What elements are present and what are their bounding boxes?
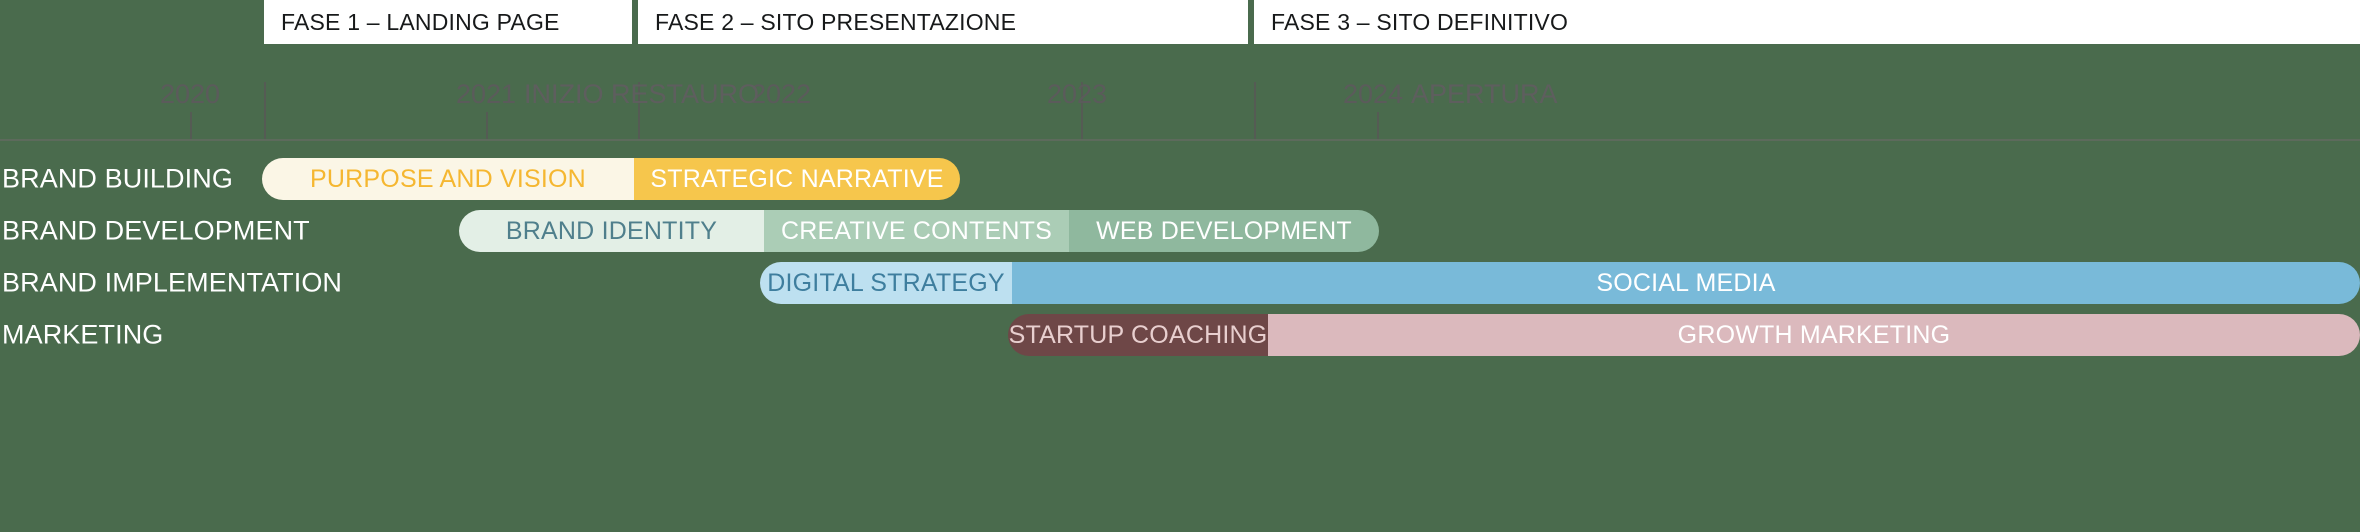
task-row: BRAND DEVELOPMENTBRAND IDENTITYCREATIVE … <box>0 205 2360 257</box>
gantt-bar-label: BRAND IDENTITY <box>506 217 717 246</box>
bar-track: BRAND IDENTITYCREATIVE CONTENTSWEB DEVEL… <box>459 210 1379 252</box>
milestone-label: APERTURA <box>1411 79 1558 110</box>
row-label-brand-implementation: BRAND IMPLEMENTATION <box>2 268 342 299</box>
year-label-2021: 2021 <box>456 79 516 110</box>
gantt-bar-label: STARTUP COACHING <box>1009 321 1268 350</box>
phase-header-label: FASE 2 – SITO PRESENTAZIONE <box>655 9 1016 36</box>
gantt-bar-segment[interactable]: CREATIVE CONTENTS <box>764 210 1069 252</box>
year-label-2020: 2020 <box>160 79 220 110</box>
phase-band-left-gap <box>0 0 264 44</box>
axis-tick <box>1254 82 1256 140</box>
axis-tick <box>1377 112 1379 140</box>
axis-tick <box>190 112 192 140</box>
gantt-bar-label: DIGITAL STRATEGY <box>767 269 1005 298</box>
gantt-bar-segment[interactable]: BRAND IDENTITY <box>459 210 764 252</box>
gantt-bar-segment[interactable]: DIGITAL STRATEGY <box>760 262 1012 304</box>
bar-track: STARTUP COACHINGGROWTH MARKETING <box>1008 314 2360 356</box>
gantt-bar-label: PURPOSE AND VISION <box>310 165 586 194</box>
phase-header-label: FASE 1 – LANDING PAGE <box>281 9 560 36</box>
gantt-bar-label: SOCIAL MEDIA <box>1596 269 1775 298</box>
phase-header-band: FASE 1 – LANDING PAGEFASE 2 – SITO PRESE… <box>0 0 2360 44</box>
gantt-bar-segment[interactable]: STRATEGIC NARRATIVE <box>634 158 960 200</box>
row-label-brand-development: BRAND DEVELOPMENT <box>2 216 310 247</box>
task-row: BRAND BUILDINGPURPOSE AND VISIONSTRATEGI… <box>0 153 2360 205</box>
year-label-2022: 2022 <box>751 79 811 110</box>
bar-track: PURPOSE AND VISIONSTRATEGIC NARRATIVE <box>262 158 960 200</box>
timeline-axis: 20202021202220232024INIZIO RESTAUROAPERT… <box>0 44 2360 140</box>
phase-header-2[interactable]: FASE 2 – SITO PRESENTAZIONE <box>638 0 1248 44</box>
gantt-bar-segment[interactable]: WEB DEVELOPMENT <box>1069 210 1379 252</box>
gantt-bar-segment[interactable]: GROWTH MARKETING <box>1268 314 2360 356</box>
task-rows: BRAND BUILDINGPURPOSE AND VISIONSTRATEGI… <box>0 141 2360 532</box>
gantt-bar-label: GROWTH MARKETING <box>1678 321 1951 350</box>
gantt-bar-segment[interactable]: SOCIAL MEDIA <box>1012 262 2360 304</box>
year-label-2023: 2023 <box>1047 79 1107 110</box>
gantt-bar-segment[interactable]: PURPOSE AND VISION <box>262 158 634 200</box>
task-row: BRAND IMPLEMENTATIONDIGITAL STRATEGYSOCI… <box>0 257 2360 309</box>
gantt-bar-label: STRATEGIC NARRATIVE <box>650 165 943 194</box>
row-label-brand-building: BRAND BUILDING <box>2 164 233 195</box>
row-label-marketing: MARKETING <box>2 320 163 351</box>
gantt-roadmap: FASE 1 – LANDING PAGEFASE 2 – SITO PRESE… <box>0 0 2360 532</box>
gantt-bar-label: WEB DEVELOPMENT <box>1096 217 1352 246</box>
phase-header-3[interactable]: FASE 3 – SITO DEFINITIVO <box>1254 0 2360 44</box>
axis-tick <box>486 112 488 140</box>
phase-header-label: FASE 3 – SITO DEFINITIVO <box>1271 9 1568 36</box>
axis-tick <box>264 82 266 140</box>
year-label-2024: 2024 <box>1343 79 1403 110</box>
gantt-bar-label: CREATIVE CONTENTS <box>781 217 1052 246</box>
task-row: MARKETINGSTARTUP COACHINGGROWTH MARKETIN… <box>0 309 2360 361</box>
bar-track: DIGITAL STRATEGYSOCIAL MEDIA <box>760 262 2360 304</box>
phase-header-1[interactable]: FASE 1 – LANDING PAGE <box>264 0 632 44</box>
milestone-label: INIZIO RESTAURO <box>524 79 759 110</box>
gantt-bar-segment[interactable]: STARTUP COACHING <box>1008 314 1268 356</box>
